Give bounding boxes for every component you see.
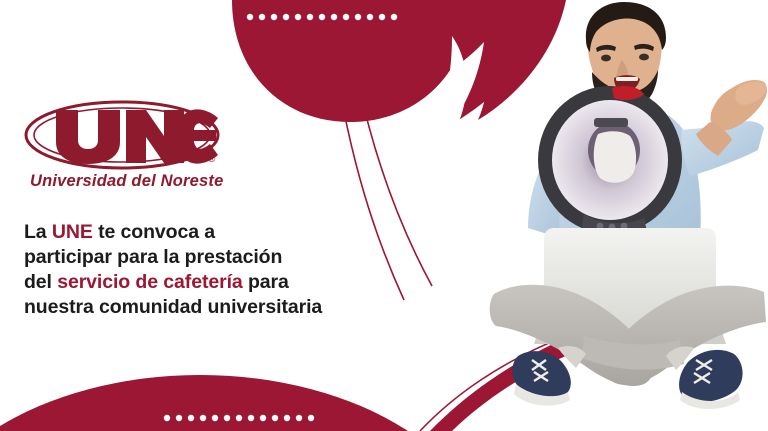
shoe-right [679,350,743,402]
photo-man-with-megaphone [488,0,768,431]
une-logo[interactable]: ® Universidad del Noreste [22,96,252,196]
headline-l3-post: para [243,271,289,293]
headline-highlight-une: UNE [52,221,93,243]
bottom-dot-row [164,415,314,421]
headline-l1-post: te convoca a [93,221,215,243]
megaphone-handle-tube [594,131,636,183]
headline-highlight-servicio: servicio de cafetería [57,271,242,293]
headline-line-2: participar para la prestación [24,245,384,270]
logo-tagline: Universidad del Noreste [30,172,250,191]
eye-right [639,54,649,61]
headline-line-1: La UNE te convoca a [24,220,384,245]
top-dot-row [247,14,397,20]
headline-line-4: nuestra comunidad universitaria [24,295,384,320]
headline-line-3: del servicio de cafetería para [24,270,384,295]
logo-letter-u [56,110,120,164]
registered-trademark-icon: ® [208,154,215,165]
headline-l1-pre: La [24,221,52,243]
megaphone-top-bracket [594,118,628,127]
promotional-banner: ® Universidad del Noreste La UNE te conv… [0,0,768,431]
headline-text: La UNE te convoca a participar para la p… [24,220,384,320]
headline-l3-pre: del [24,271,57,293]
une-logo-mark [22,96,222,174]
logo-letter-n [126,110,184,163]
teeth [616,77,638,81]
eye-left [601,55,611,62]
